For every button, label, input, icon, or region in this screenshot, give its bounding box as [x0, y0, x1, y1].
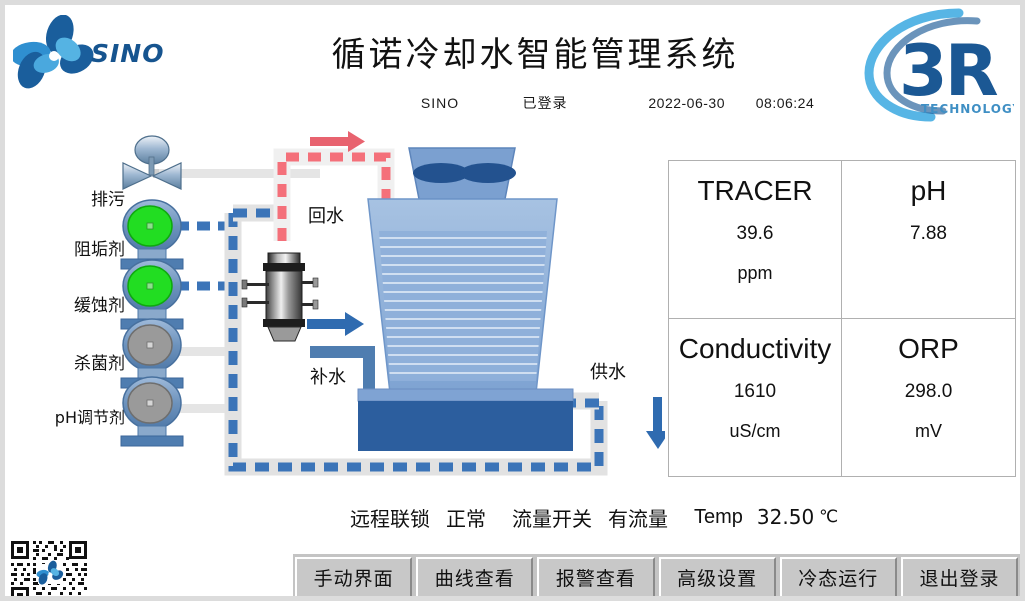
- header-bar: SINO 循诺冷却水智能管理系统 SINO 已登录 2022-06-30 08:…: [5, 5, 1020, 131]
- flow-switch-label: 流量开关: [512, 503, 592, 532]
- measurement-cell-orp: ORP 298.0 mV: [842, 319, 1015, 477]
- measurement-name: TRACER: [697, 173, 812, 208]
- return-water-label: 回水: [305, 201, 347, 229]
- blowdown-valve-icon[interactable]: [123, 136, 181, 189]
- sensor-chamber-icon[interactable]: [242, 253, 318, 341]
- trend-view-button[interactable]: 曲线查看: [416, 557, 533, 598]
- 3r-technology-logo: 3R TECHNOLOGY: [859, 7, 1014, 125]
- measurement-cell-tracer: TRACER 39.6 ppm: [669, 161, 842, 319]
- temperature-value: 32.50: [757, 505, 814, 529]
- remote-interlock-label: 远程联锁: [350, 503, 430, 532]
- temperature-unit: ℃: [819, 507, 838, 527]
- measurement-name: Conductivity: [679, 331, 832, 366]
- qr-code[interactable]: [8, 538, 92, 601]
- current-time: 08:06:24: [725, 95, 845, 111]
- bottom-navigation-bar: 手动界面 曲线查看 报警查看 高级设置 冷态运行 退出登录: [293, 554, 1020, 601]
- fan-blade-right: [460, 163, 516, 183]
- alarm-view-button[interactable]: 报警查看: [537, 557, 654, 598]
- measurement-name: pH: [911, 173, 947, 208]
- login-status: 已登录: [485, 93, 605, 113]
- measurement-cell-conductivity: Conductivity 1610 uS/cm: [669, 319, 842, 477]
- svg-text:3R: 3R: [899, 30, 998, 112]
- measurement-value: 39.6: [737, 223, 774, 245]
- remote-interlock-value: 正常: [446, 503, 486, 532]
- measurement-value: 1610: [734, 381, 776, 403]
- flow-arrow-makeup: [307, 312, 364, 336]
- current-date: 2022-06-30: [605, 95, 725, 111]
- process-diagram: [5, 131, 665, 491]
- measurement-cell-ph: pH 7.88: [842, 161, 1015, 319]
- measurement-unit: ppm: [737, 263, 772, 284]
- measurement-panel: TRACER 39.6 ppm pH 7.88 Conductivity 161…: [668, 160, 1016, 477]
- sino-logo: SINO: [13, 15, 173, 100]
- svg-text:TECHNOLOGY: TECHNOLOGY: [921, 102, 1014, 116]
- temperature-label: Temp: [694, 506, 743, 529]
- svg-text:SINO: SINO: [91, 39, 164, 68]
- status-bar: 远程联锁 正常 流量开关 有流量 Temp 32.50 ℃: [350, 500, 1010, 534]
- makeup-water-label: 补水: [307, 362, 349, 390]
- manual-interface-button[interactable]: 手动界面: [295, 557, 412, 598]
- measurement-value: 7.88: [910, 223, 947, 245]
- pump-ph-adjuster[interactable]: [121, 377, 183, 446]
- supply-water-label: 供水: [587, 357, 629, 385]
- measurement-name: ORP: [898, 331, 959, 366]
- page-title: 循诺冷却水智能管理系统: [255, 27, 815, 76]
- header-meta: SINO 已登录 2022-06-30 08:06:24: [395, 93, 865, 113]
- flow-arrow-supply-down: [646, 397, 665, 449]
- application-window: SINO 循诺冷却水智能管理系统 SINO 已登录 2022-06-30 08:…: [0, 0, 1025, 601]
- advanced-settings-button[interactable]: 高级设置: [659, 557, 776, 598]
- user-name: SINO: [395, 95, 485, 111]
- logout-button[interactable]: 退出登录: [901, 557, 1018, 598]
- cold-start-button[interactable]: 冷态运行: [780, 557, 897, 598]
- pump-scale-inhibitor[interactable]: [121, 200, 183, 269]
- measurement-unit: mV: [915, 421, 942, 442]
- measurement-unit: uS/cm: [729, 421, 780, 442]
- flow-switch-value: 有流量: [608, 503, 668, 532]
- measurement-value: 298.0: [905, 381, 953, 403]
